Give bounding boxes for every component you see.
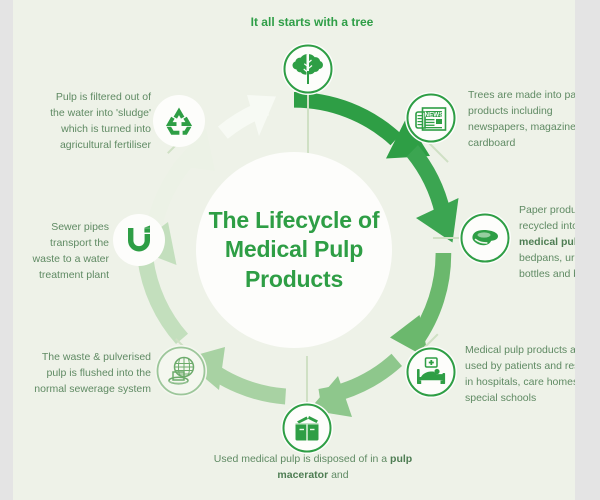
caption-newspaper: Trees are made into paper products inclu… [468,88,575,152]
newspaper-masthead-text: NEWS [425,111,444,118]
page-title: The Lifecycle of Medical Pulp Products [196,206,392,294]
macerator-icon[interactable] [281,402,333,454]
caption-tree: It all starts with a tree [227,14,397,30]
arrow-segment-3 [390,253,451,359]
sewerage-icon[interactable] [155,345,207,397]
caption-hospital-bed: Medical pulp products are used by patien… [465,343,575,407]
connector-macerator [306,356,308,408]
pipe-icon[interactable] [113,214,165,266]
caption-bedpan-part1: Paper products are recycled into [519,204,575,232]
connector-tree [307,90,309,156]
caption-sewer-pipe: Sewer pipes transport the waste to a wat… [29,220,109,284]
caption-macerator: Used medical pulp is disposed of in a pu… [203,452,423,484]
caption-macerator-part2: and [328,469,348,481]
infographic-canvas: The Lifecycle of Medical Pulp Products [13,0,575,500]
newspaper-icon[interactable]: NEWS [405,92,457,144]
arrow-segment-2 [407,145,459,243]
center-disc: The Lifecycle of Medical Pulp Products [196,152,392,348]
hospital-bed-icon[interactable] [405,346,457,398]
tree-icon[interactable] [282,43,334,95]
caption-bedpan-part2: bedpans, urine bottles and bowls [519,252,575,280]
bedpan-icon[interactable] [459,212,511,264]
caption-bedpan-bold: medical pulp [519,236,575,248]
recycle-icon[interactable] [153,95,205,147]
caption-macerator-part1: Used medical pulp is disposed of in a [214,453,390,465]
caption-bedpan: Paper products are recycled into medical… [519,203,575,283]
caption-sewerage: The waste & pulverised pulp is flushed i… [33,350,151,398]
caption-recycle: Pulp is filtered out of the water into '… [39,90,151,154]
arrow-segment-8 [218,95,276,139]
